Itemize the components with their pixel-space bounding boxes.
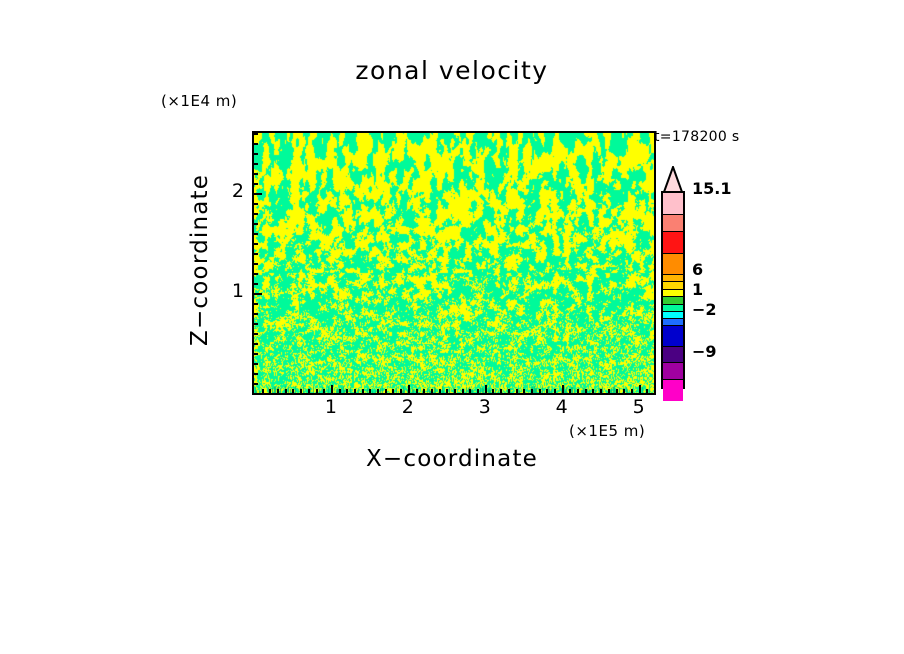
colorbar-band (663, 297, 683, 304)
x-axis-minor-tick (416, 389, 418, 393)
x-axis-major-tick (562, 385, 564, 393)
x-axis-minor-tick (585, 389, 587, 393)
x-axis-minor-tick (654, 389, 656, 393)
colorbar-ticklabel: 6 (692, 260, 703, 279)
colorbar-ticklabel: −9 (692, 342, 717, 361)
y-axis-ticklabel: 2 (222, 180, 244, 202)
x-axis-minor-tick (600, 389, 602, 393)
y-axis-major-tick (254, 293, 262, 295)
x-axis-major-tick (485, 385, 487, 393)
y-axis-minor-tick (254, 173, 258, 175)
colorbar-band (663, 380, 683, 401)
colorbar-band (663, 347, 683, 364)
x-axis-minor-tick (516, 389, 518, 393)
colorbar-band (663, 193, 683, 215)
y-axis-ticklabel: 1 (222, 280, 244, 302)
colorbar-ticklabel: −2 (692, 300, 717, 319)
x-axis-minor-tick (339, 389, 341, 393)
y-axis-minor-tick (254, 303, 258, 305)
y-axis-minor-tick (254, 133, 258, 135)
x-axis-minor-tick (500, 389, 502, 393)
y-axis-minor-tick (254, 253, 258, 255)
figure-canvas: zonal velocity (×1E4 m) (×1E5 m) t=17820… (0, 0, 904, 654)
y-axis-minor-tick (254, 343, 258, 345)
heatmap-field (254, 133, 654, 393)
x-axis-ticklabel: 4 (547, 396, 577, 418)
x-axis-minor-tick (554, 389, 556, 393)
x-axis-minor-tick (346, 389, 348, 393)
colorbar-band (663, 290, 683, 298)
y-axis-minor-tick (254, 333, 258, 335)
colorbar-band (663, 275, 683, 283)
x-axis-minor-tick (492, 389, 494, 393)
x-axis-minor-tick (446, 389, 448, 393)
x-axis-minor-tick (308, 389, 310, 393)
y-axis-minor-tick (254, 263, 258, 265)
x-axis-minor-tick (569, 389, 571, 393)
x-axis-minor-tick (285, 389, 287, 393)
x-axis-minor-tick (608, 389, 610, 393)
x-axis-minor-tick (469, 389, 471, 393)
x-axis-minor-tick (385, 389, 387, 393)
colorbar-band (663, 282, 683, 290)
x-axis-minor-tick (646, 389, 648, 393)
x-axis-unit-label: (×1E5 m) (569, 422, 645, 440)
x-axis-minor-tick (546, 389, 548, 393)
x-axis-ticklabel: 1 (316, 396, 346, 418)
y-axis-minor-tick (254, 143, 258, 145)
x-axis-minor-tick (369, 389, 371, 393)
y-axis-minor-tick (254, 243, 258, 245)
x-axis-minor-tick (300, 389, 302, 393)
x-axis-minor-tick (377, 389, 379, 393)
x-axis-minor-tick (454, 389, 456, 393)
x-axis-minor-tick (577, 389, 579, 393)
colorbar-band (663, 215, 683, 232)
y-axis-minor-tick (254, 313, 258, 315)
x-axis-minor-tick (400, 389, 402, 393)
x-axis-minor-tick (462, 389, 464, 393)
y-axis-minor-tick (254, 213, 258, 215)
x-axis-minor-tick (439, 389, 441, 393)
x-axis-minor-tick (623, 389, 625, 393)
x-axis-minor-tick (362, 389, 364, 393)
x-axis-minor-tick (292, 389, 294, 393)
x-axis-minor-tick (631, 389, 633, 393)
x-axis-minor-tick (539, 389, 541, 393)
y-axis-minor-tick (254, 203, 258, 205)
colorbar-band (663, 326, 683, 347)
y-axis-minor-tick (254, 283, 258, 285)
y-axis-minor-tick (254, 383, 258, 385)
y-axis-minor-tick (254, 183, 258, 185)
colorbar-band (663, 312, 683, 319)
x-axis-minor-tick (423, 389, 425, 393)
x-axis-minor-tick (477, 389, 479, 393)
x-axis-minor-tick (431, 389, 433, 393)
colorbar-band (663, 305, 683, 312)
x-axis-title: X−coordinate (252, 446, 652, 472)
colorbar-arrow-icon (661, 166, 685, 193)
colorbar-band (663, 232, 683, 254)
x-axis-ticklabel: 5 (624, 396, 654, 418)
y-axis-minor-tick (254, 363, 258, 365)
x-axis-ticklabel: 2 (393, 396, 423, 418)
y-axis-title: Z−coordinate (186, 160, 214, 360)
x-axis-minor-tick (277, 389, 279, 393)
y-axis-minor-tick (254, 233, 258, 235)
y-axis-unit-label: (×1E4 m) (161, 92, 237, 110)
x-axis-minor-tick (354, 389, 356, 393)
y-axis-minor-tick (254, 323, 258, 325)
x-axis-minor-tick (392, 389, 394, 393)
y-axis-minor-tick (254, 153, 258, 155)
x-axis-minor-tick (508, 389, 510, 393)
x-axis-major-tick (331, 385, 333, 393)
y-axis-minor-tick (254, 273, 258, 275)
y-axis-minor-tick (254, 373, 258, 375)
x-axis-minor-tick (523, 389, 525, 393)
y-axis-major-tick (254, 193, 262, 195)
y-axis-minor-tick (254, 223, 258, 225)
colorbar-ticklabel: 1 (692, 280, 703, 299)
plot-area (252, 131, 656, 395)
x-axis-minor-tick (323, 389, 325, 393)
x-axis-major-tick (408, 385, 410, 393)
x-axis-minor-tick (262, 389, 264, 393)
x-axis-ticklabel: 3 (470, 396, 500, 418)
x-axis-minor-tick (531, 389, 533, 393)
time-annotation: t=178200 s (654, 129, 739, 145)
x-axis-minor-tick (269, 389, 271, 393)
colorbar (661, 191, 685, 389)
x-axis-minor-tick (316, 389, 318, 393)
page-title: zonal velocity (252, 56, 652, 85)
y-axis-minor-tick (254, 163, 258, 165)
x-axis-minor-tick (616, 389, 618, 393)
colorbar-band (663, 363, 683, 380)
x-axis-major-tick (639, 385, 641, 393)
x-axis-minor-tick (592, 389, 594, 393)
colorbar-band (663, 254, 683, 274)
colorbar-ticklabel: 15.1 (692, 179, 731, 198)
y-axis-minor-tick (254, 353, 258, 355)
